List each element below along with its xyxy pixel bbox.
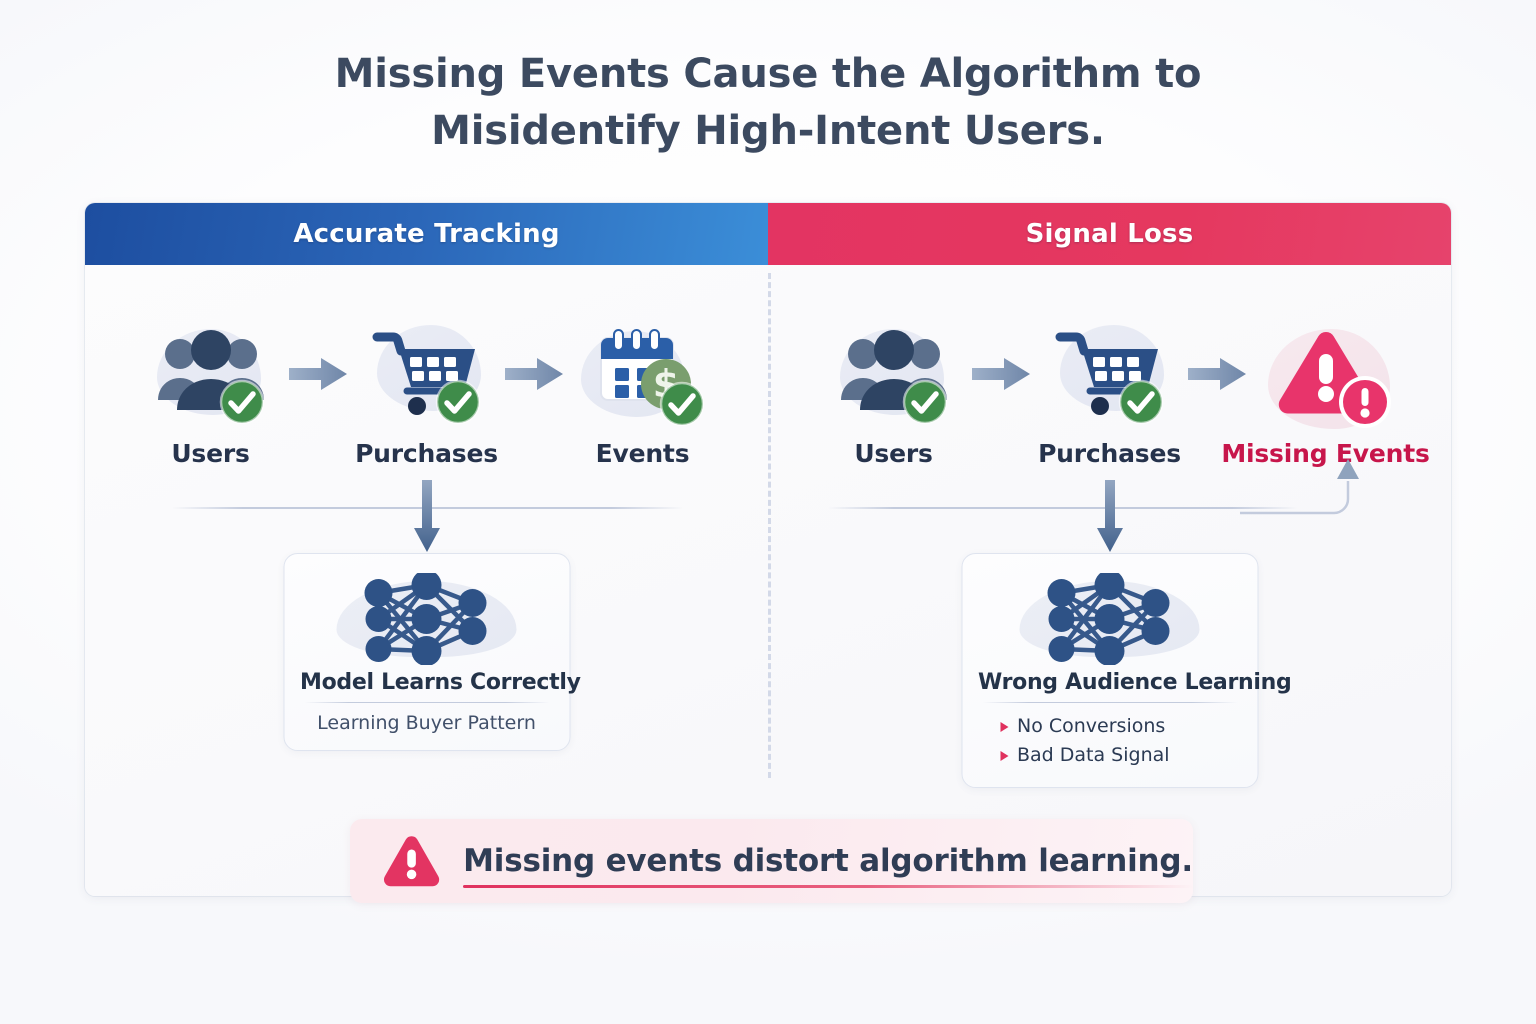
page-title-line-2: Misidentify High-Intent Users. <box>0 103 1536 160</box>
panel-body-accurate-tracking: Users <box>85 265 768 896</box>
summary-banner-underline <box>463 885 1193 888</box>
list-item-label: No Conversions <box>1017 712 1165 741</box>
list-item: Bad Data Signal <box>1000 741 1241 770</box>
outcome-card-model-learns: Model Learns Correctly Learning Buyer Pa… <box>283 553 570 751</box>
comparison-panel: Accurate Tracking Signal Loss <box>85 203 1451 896</box>
feedback-loop-arrow-icon <box>1238 451 1368 531</box>
card-icon-art <box>300 570 553 668</box>
arrow-down-icon <box>412 480 442 554</box>
arrow-right-icon <box>289 357 349 391</box>
users-icon-art <box>141 315 281 433</box>
summary-banner: Missing events distort algorithm learnin… <box>350 819 1193 903</box>
page-title: Missing Events Cause the Algorithm to Mi… <box>0 46 1536 160</box>
card-icon-art <box>978 570 1241 668</box>
flow-node-label-users: Users <box>171 439 249 468</box>
arrow-right-icon <box>1188 357 1248 391</box>
flow-arrow-2 <box>502 315 568 433</box>
infographic-canvas: Missing Events Cause the Algorithm to Mi… <box>0 0 1536 1024</box>
bullet-triangle-icon <box>1000 751 1008 761</box>
flow-node-label-events: Events <box>596 439 690 468</box>
panel-header-signal-loss: Signal Loss <box>768 203 1451 265</box>
arrow-down-icon <box>1095 480 1125 554</box>
list-item: No Conversions <box>1000 712 1241 741</box>
neural-network-icon <box>351 573 503 665</box>
list-item-label: Bad Data Signal <box>1017 741 1170 770</box>
flow-arrow-1 <box>969 315 1035 433</box>
card-divider <box>982 702 1237 703</box>
arrow-right-icon <box>972 357 1032 391</box>
arrow-right-icon <box>505 357 565 391</box>
check-badge-icon <box>1116 377 1166 427</box>
flow-accurate-tracking: Users <box>85 315 768 505</box>
panel-header-accurate-tracking: Accurate Tracking <box>85 203 768 265</box>
flow-node-users: Users <box>136 315 286 468</box>
card-title: Wrong Audience Learning <box>978 670 1241 695</box>
page-title-line-1: Missing Events Cause the Algorithm to <box>0 46 1536 103</box>
alert-badge-icon <box>1336 373 1394 431</box>
panel-body-signal-loss: Users <box>768 265 1451 896</box>
card-subtitle: Learning Buyer Pattern <box>300 712 553 734</box>
check-badge-icon <box>900 377 950 427</box>
outcome-card-wrong-audience: Wrong Audience Learning No Conversions B… <box>961 553 1258 788</box>
purchases-icon-art <box>357 315 497 433</box>
events-icon-art: $ <box>573 315 713 433</box>
warning-triangle-icon <box>382 832 441 890</box>
flow-node-purchases: Purchases <box>1035 315 1185 468</box>
users-icon-art <box>824 315 964 433</box>
flow-arrow-2 <box>1185 315 1251 433</box>
check-badge-icon <box>433 377 483 427</box>
flow-node-label-purchases: Purchases <box>1038 439 1181 468</box>
card-bullet-list: No Conversions Bad Data Signal <box>978 712 1241 771</box>
flow-node-users: Users <box>819 315 969 468</box>
check-badge-icon <box>217 377 267 427</box>
missing-events-icon-art <box>1256 315 1396 433</box>
panel-header-row: Accurate Tracking Signal Loss <box>85 203 1451 265</box>
flow-node-label-users: Users <box>854 439 932 468</box>
summary-banner-text-wrap: Missing events distort algorithm learnin… <box>463 843 1193 879</box>
check-badge-icon <box>657 379 707 429</box>
card-title: Model Learns Correctly <box>300 670 553 695</box>
neural-network-icon <box>1034 573 1186 665</box>
flow-arrow-1 <box>286 315 352 433</box>
flow-node-purchases: Purchases <box>352 315 502 468</box>
bullet-triangle-icon <box>1000 722 1008 732</box>
card-divider <box>304 702 549 703</box>
summary-banner-text: Missing events distort algorithm learnin… <box>463 843 1193 879</box>
purchases-icon-art <box>1040 315 1180 433</box>
flow-node-missing-events: Missing Events <box>1251 315 1401 468</box>
flow-node-events: $ Events <box>568 315 718 468</box>
flow-divider-line <box>828 507 1298 509</box>
flow-node-label-purchases: Purchases <box>355 439 498 468</box>
